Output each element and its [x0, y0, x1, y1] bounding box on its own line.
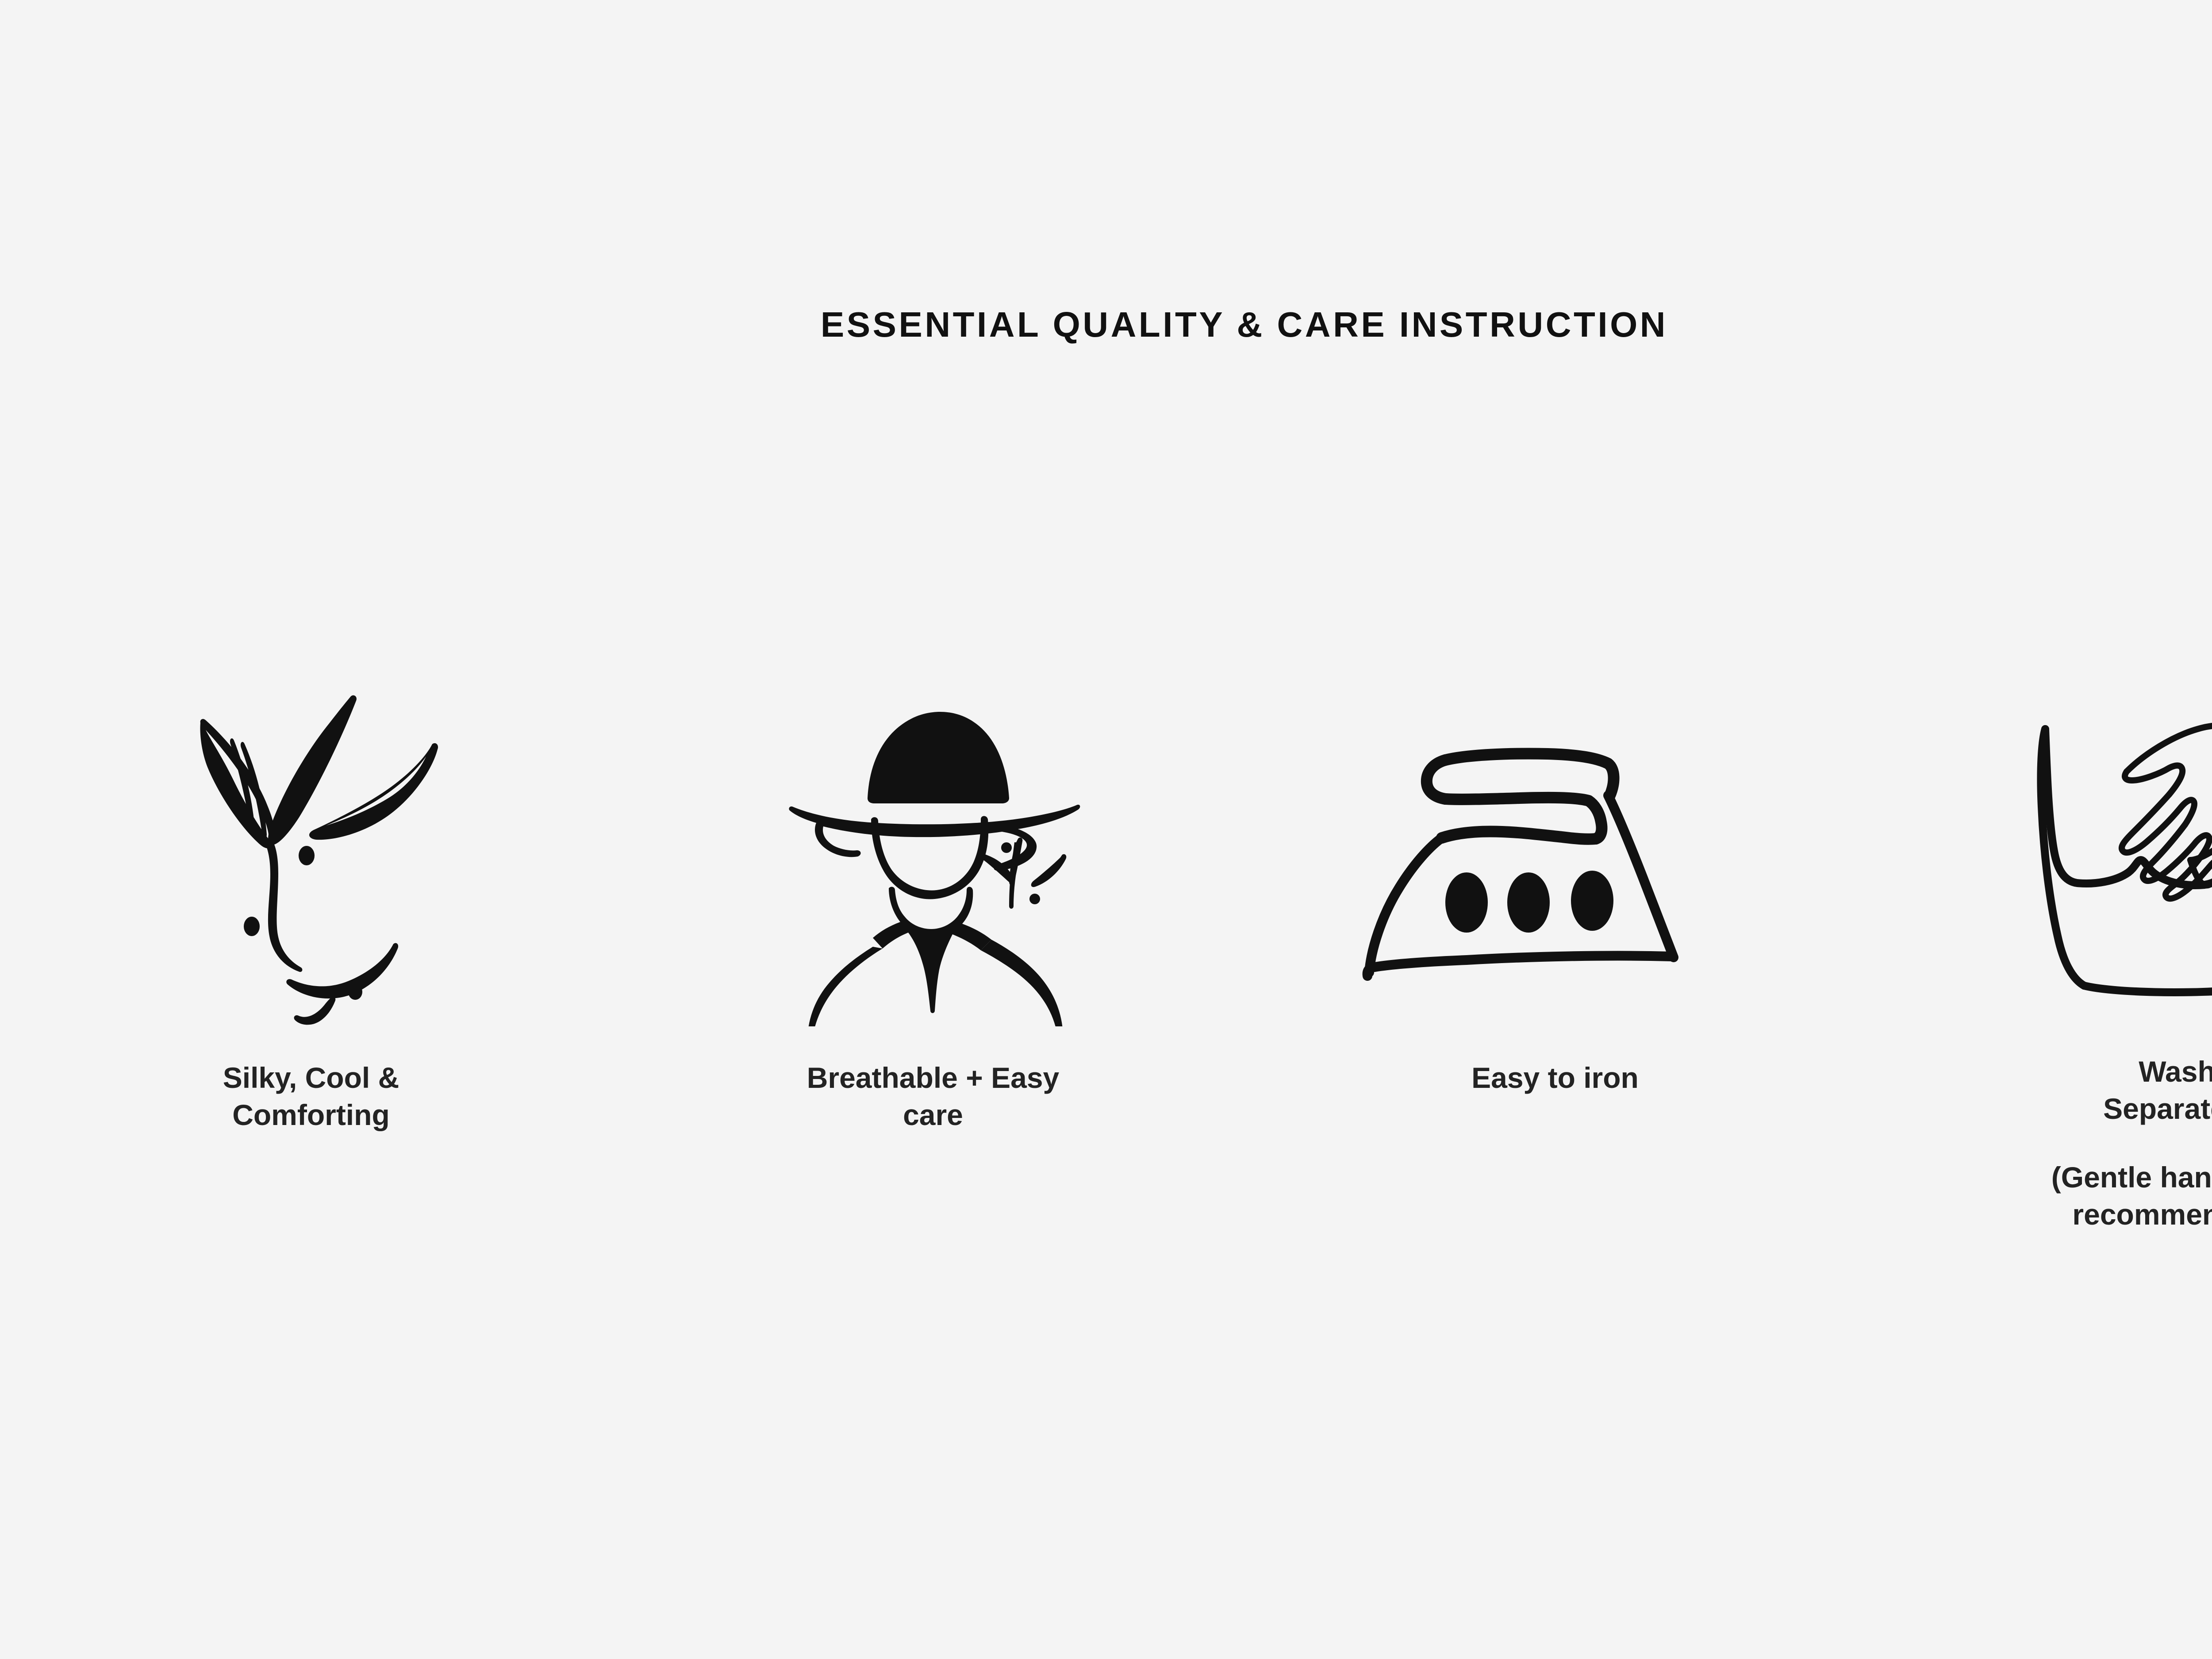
feature-sublabel-4: (Gentle handwash recommended): [2051, 1159, 2212, 1233]
feature-label-4: Wash Separately: [2103, 1053, 2212, 1128]
care-instruction-page: ESSENTIAL QUALITY & CARE INSTRUCTION: [0, 0, 2212, 1659]
feature-column-3: Easy to iron: [1244, 672, 1866, 1096]
sprout-leaf-icon: [112, 672, 510, 1053]
farmer-with-hat-icon: [734, 672, 1132, 1053]
feature-column-4: Wash Separately (Gentle handwash recomme…: [1866, 672, 2212, 1233]
feature-label-1: Silky, Cool & Comforting: [223, 1059, 399, 1134]
feature-column-2: Breathable + Easy care: [622, 672, 1244, 1134]
handwash-basin-icon: [1978, 672, 2212, 1053]
feature-label-2: Breathable + Easy care: [807, 1059, 1059, 1134]
feature-label-3: Easy to iron: [1471, 1059, 1639, 1096]
feature-columns: Silky, Cool & Comforting: [0, 672, 2212, 1233]
feature-column-1: Silky, Cool & Comforting: [0, 672, 622, 1134]
clothes-iron-icon: [1356, 672, 1754, 1053]
page-title: ESSENTIAL QUALITY & CARE INSTRUCTION: [0, 305, 2212, 344]
